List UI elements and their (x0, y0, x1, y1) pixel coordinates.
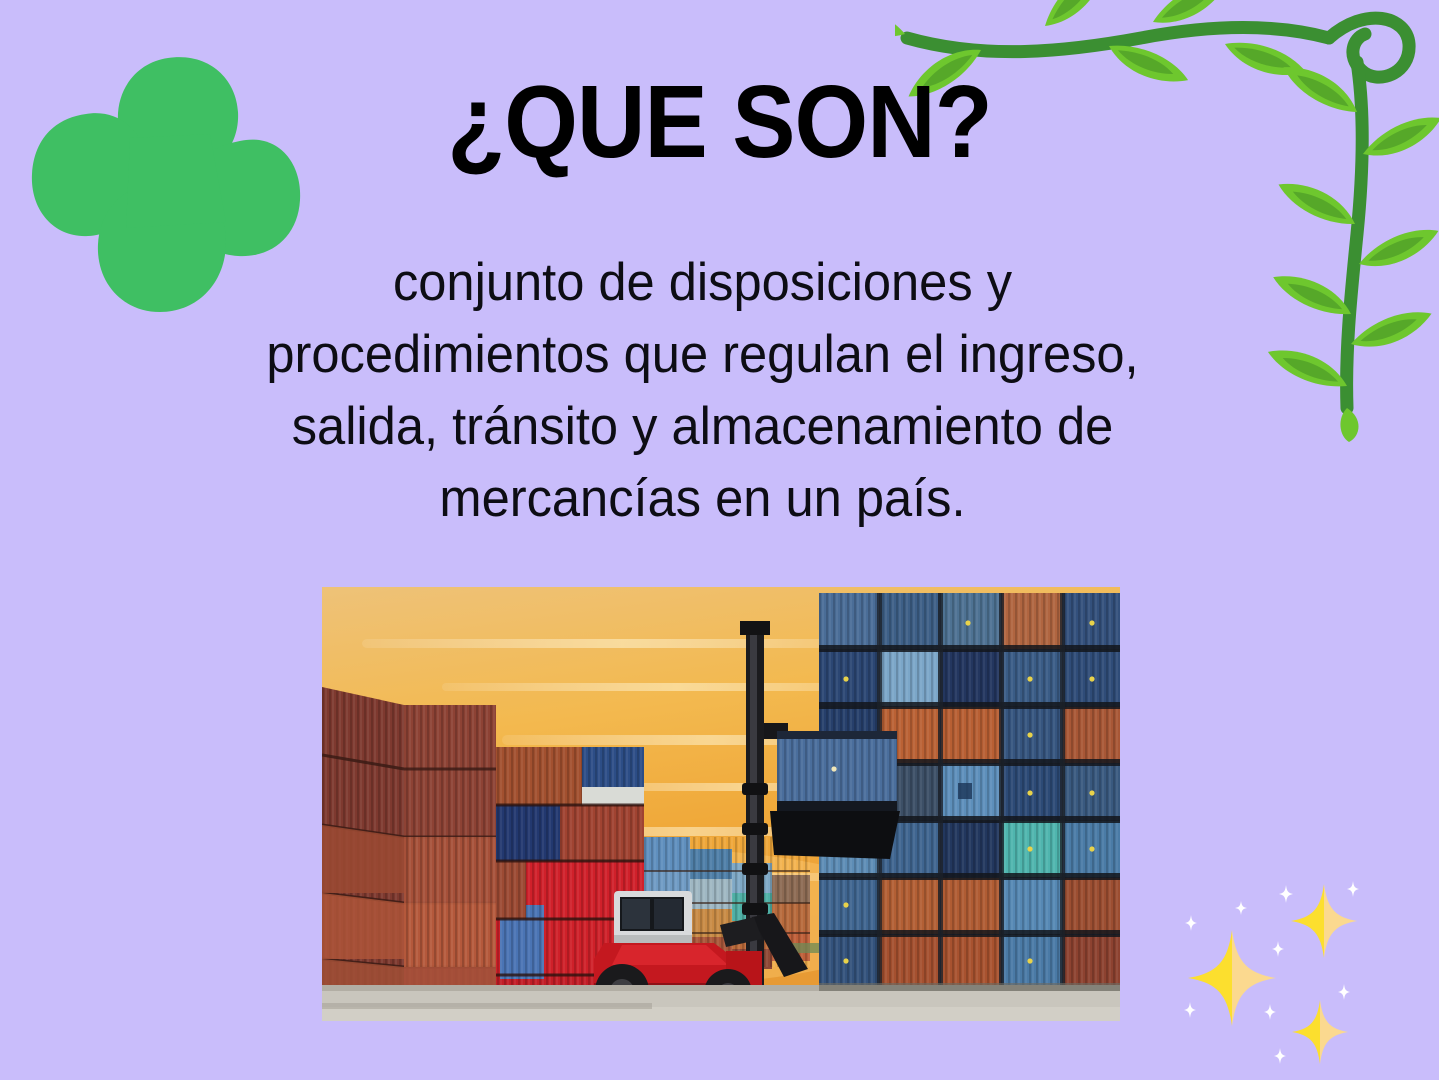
presentation-slide: ¿QUE SON? conjunto de disposiciones y pr… (0, 0, 1439, 1080)
body-line: mercancías en un país. (180, 463, 1226, 535)
sparkle-cluster-icon (1152, 856, 1439, 1080)
shipping-container-yard-photo (322, 587, 1120, 1021)
slide-body-text: conjunto de disposiciones y procedimient… (180, 247, 1226, 535)
body-line: salida, tránsito y almacenamiento de (180, 391, 1226, 463)
body-line: conjunto de disposiciones y (180, 247, 1226, 319)
body-line: procedimientos que regulan el ingreso, (180, 319, 1226, 391)
slide-title: ¿QUE SON? (58, 70, 1382, 173)
